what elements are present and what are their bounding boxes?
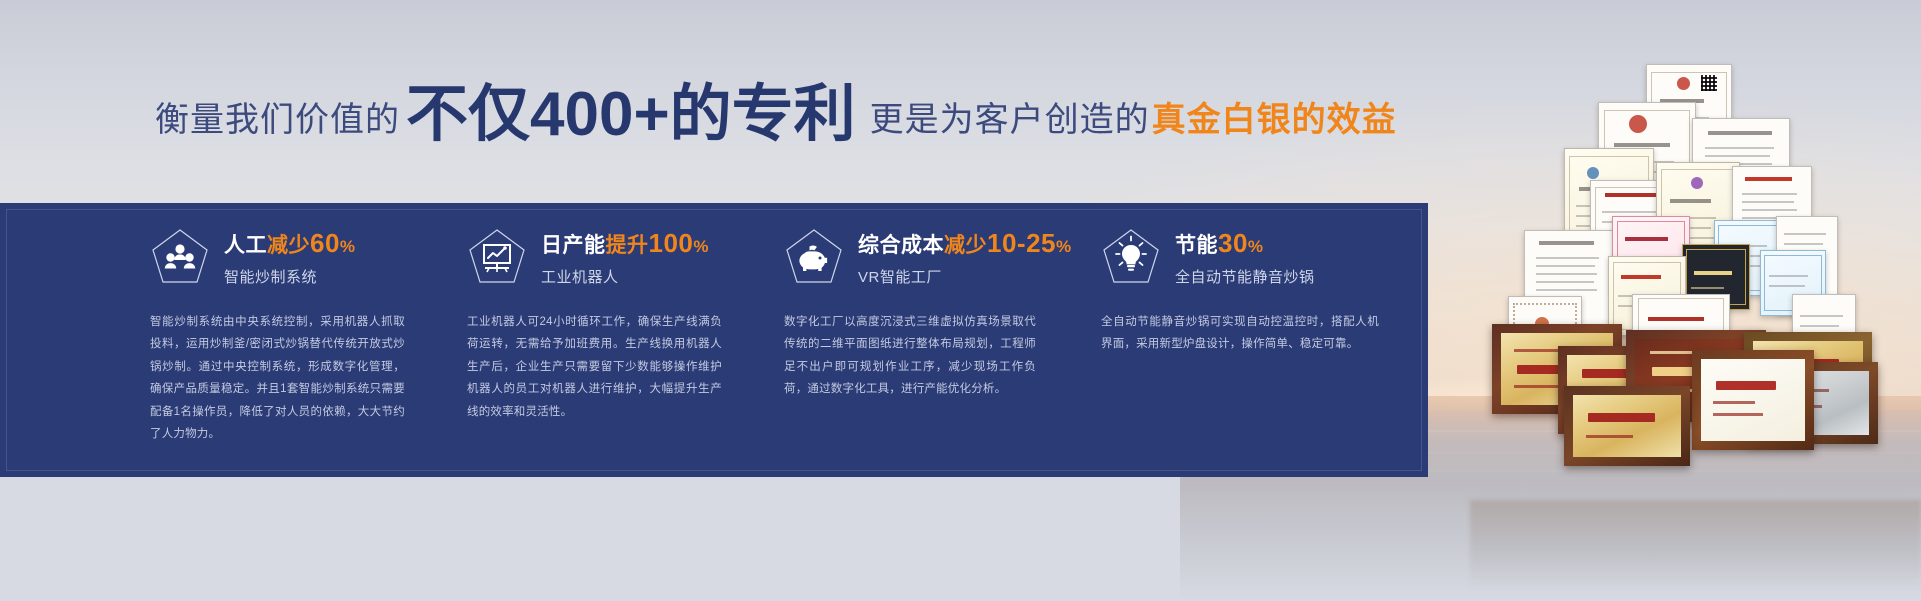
feature-column-3: 综合成本减少10-25% VR智能工厂 数字化工厂以高度沉浸式三维虚拟仿真场景取… bbox=[784, 221, 1079, 477]
metric-verb: 减少 bbox=[944, 234, 987, 257]
metric-unit: % bbox=[693, 237, 709, 256]
headline-mid: 更是为客户创造的 bbox=[870, 92, 1150, 141]
metric-unit: % bbox=[1248, 237, 1264, 256]
metric-value: 30 bbox=[1218, 228, 1248, 258]
feature-column-1: 人工减少60% 智能炒制系统 智能炒制系统由中央系统控制，采用机器人抓取投料，运… bbox=[150, 221, 445, 477]
metric-unit: % bbox=[340, 237, 356, 256]
metric-line: 人工减少60% bbox=[224, 228, 356, 259]
metric-prefix: 人工 bbox=[224, 234, 267, 257]
metric-prefix: 综合成本 bbox=[858, 234, 944, 257]
metric-prefix: 日产能 bbox=[541, 234, 606, 257]
chart-board-icon bbox=[467, 227, 527, 287]
metric-line: 日产能提升100% bbox=[541, 228, 709, 259]
feature-subtitle: VR智能工厂 bbox=[858, 266, 1072, 287]
feature-column-4: 节能30% 全自动节能静音炒锅 全自动节能静音炒锅可实现自动控温控时，搭配人机界… bbox=[1101, 221, 1396, 477]
banner-root: 衡量我们价值的 不仅400+的专利 更是为客户创造的 真金白银的效益 bbox=[0, 0, 1921, 601]
feature-body: 全自动节能静音炒锅可实现自动控温控时，搭配人机界面，采用新型炉盘设计，操作简单、… bbox=[1101, 311, 1379, 356]
feature-body: 工业机器人可24小时循环工作，确保生产线满负荷运转，无需给予加班费用。生产线换用… bbox=[467, 311, 722, 423]
metric-verb: 提升 bbox=[606, 234, 649, 257]
metric-value: 10-25 bbox=[987, 228, 1056, 258]
award-plaque bbox=[1564, 386, 1690, 466]
piggy-bank-icon bbox=[784, 227, 844, 287]
people-group-icon bbox=[150, 227, 210, 287]
certificate-wall bbox=[1470, 44, 1921, 544]
metric-value: 60 bbox=[310, 228, 340, 258]
feature-body: 智能炒制系统由中央系统控制，采用机器人抓取投料，运用炒制釜/密闭式炒锅替代传统开… bbox=[150, 311, 405, 446]
metric-prefix: 节能 bbox=[1175, 234, 1218, 257]
metric-line: 综合成本减少10-25% bbox=[858, 228, 1072, 259]
headline: 衡量我们价值的 不仅400+的专利 更是为客户创造的 真金白银的效益 bbox=[155, 80, 1435, 144]
feature-body: 数字化工厂以高度沉浸式三维虚拟仿真场景取代传统的二维平面图纸进行整体布局规划，工… bbox=[784, 311, 1036, 401]
metric-value: 100 bbox=[649, 228, 694, 258]
headline-accent: 真金白银的效益 bbox=[1152, 92, 1397, 141]
lightbulb-icon bbox=[1101, 227, 1161, 287]
feature-column-2: 日产能提升100% 工业机器人 工业机器人可24小时循环工作，确保生产线满负荷运… bbox=[467, 221, 762, 477]
metric-line: 节能30% bbox=[1175, 228, 1315, 259]
feature-subtitle: 全自动节能静音炒锅 bbox=[1175, 266, 1315, 287]
feature-subtitle: 工业机器人 bbox=[541, 266, 709, 287]
feature-subtitle: 智能炒制系统 bbox=[224, 266, 356, 287]
metric-unit: % bbox=[1056, 237, 1072, 256]
headline-lead: 衡量我们价值的 bbox=[155, 92, 400, 141]
headline-highlight: 不仅400+的专利 bbox=[406, 84, 856, 146]
metric-verb: 减少 bbox=[267, 234, 310, 257]
certificate-wall-reflection bbox=[1470, 500, 1921, 590]
feature-panel: 人工减少60% 智能炒制系统 智能炒制系统由中央系统控制，采用机器人抓取投料，运… bbox=[0, 203, 1428, 477]
award-plaque bbox=[1692, 350, 1814, 450]
